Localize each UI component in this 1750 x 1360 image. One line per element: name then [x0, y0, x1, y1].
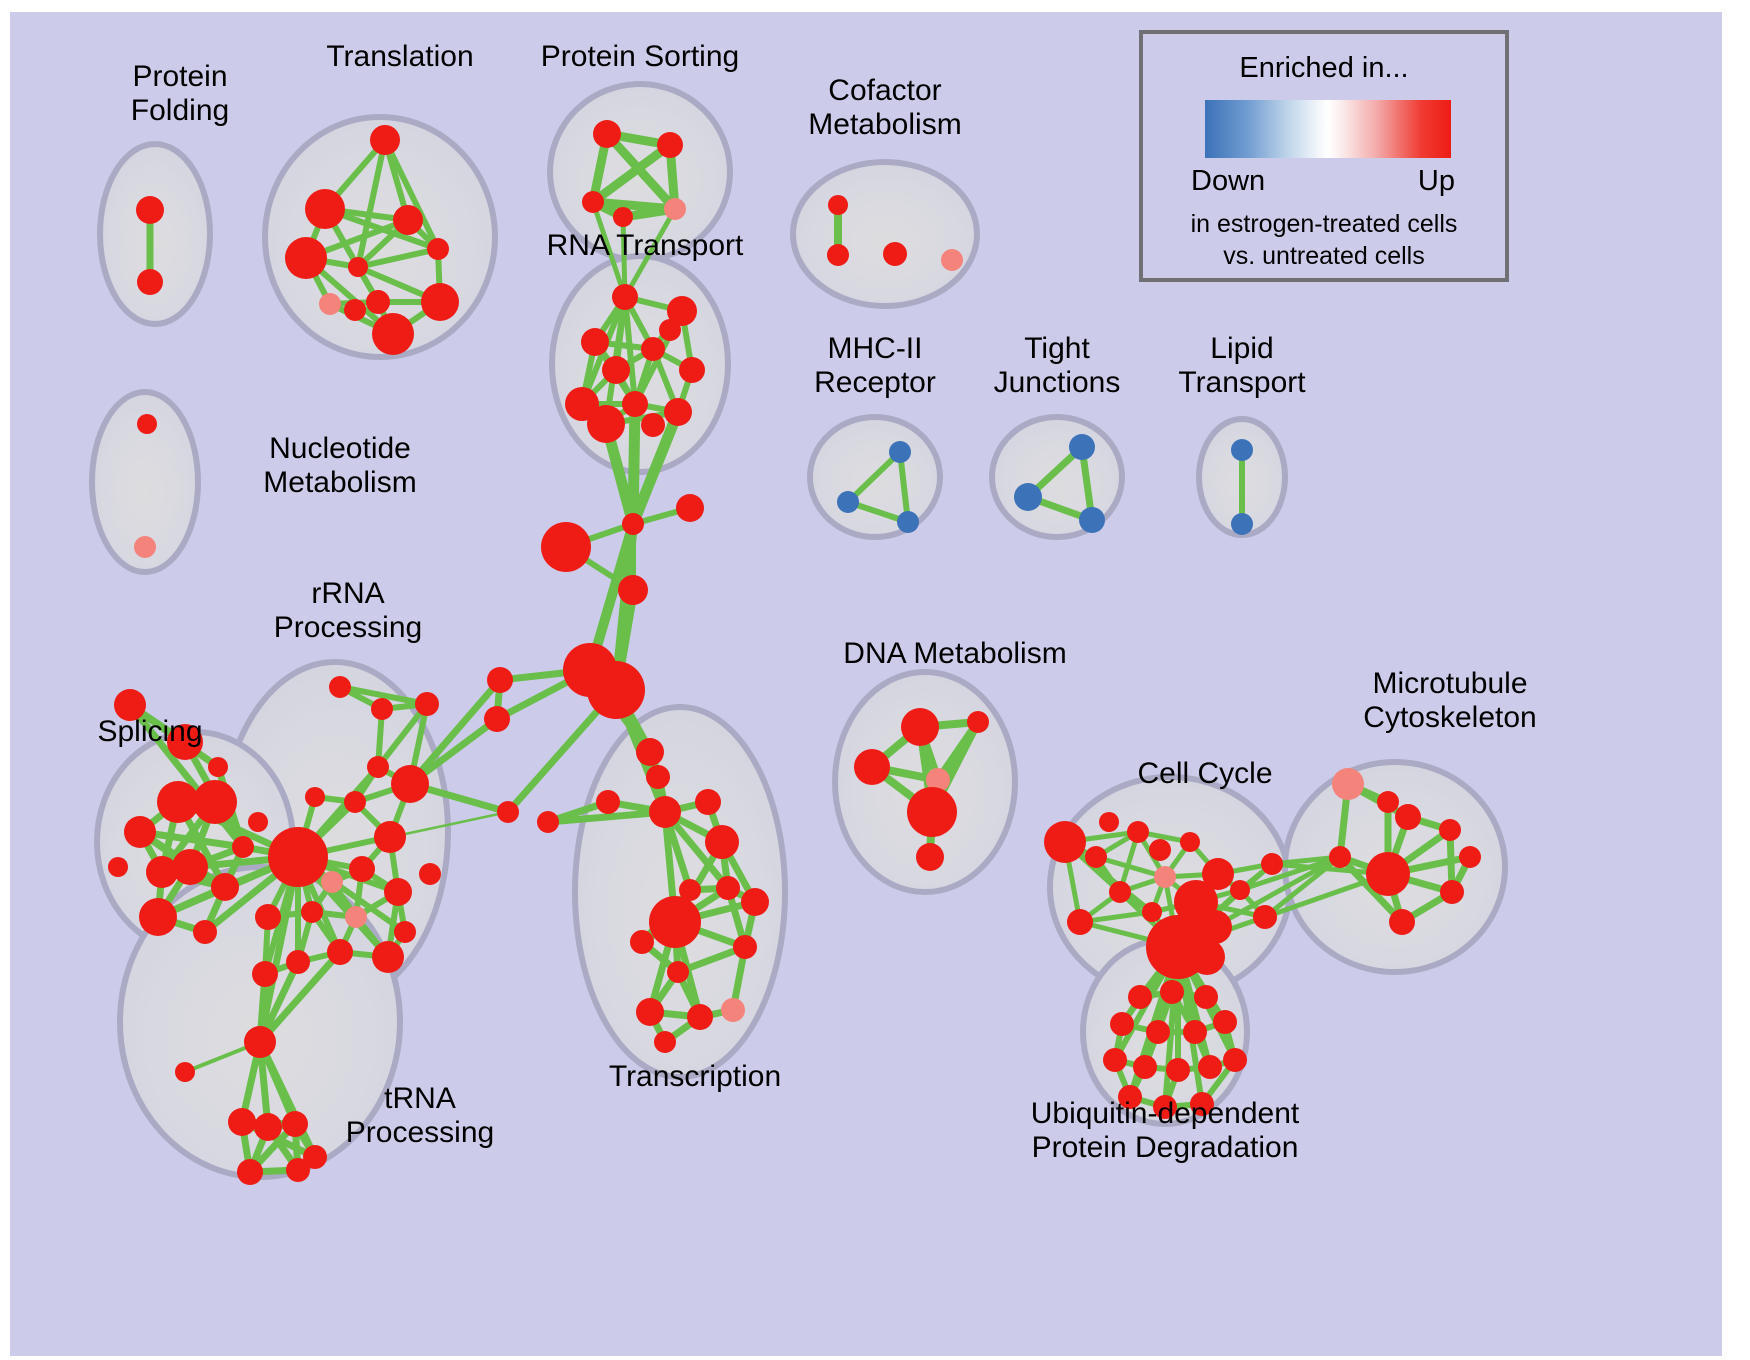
- node: [1067, 909, 1093, 935]
- node: [139, 898, 177, 936]
- node: [618, 575, 648, 605]
- node: [370, 125, 400, 155]
- node: [193, 780, 237, 824]
- node: [348, 257, 368, 277]
- hull-protein-folding: [100, 144, 210, 324]
- node: [232, 836, 254, 858]
- node: [587, 661, 645, 719]
- node: [1366, 852, 1410, 896]
- node: [175, 1062, 195, 1082]
- node: [421, 283, 459, 321]
- node: [716, 876, 740, 900]
- node: [1110, 1012, 1134, 1036]
- node: [687, 1004, 713, 1030]
- network-canvas: Protein Folding Translation Protein Sort…: [10, 12, 1722, 1356]
- node: [1261, 853, 1283, 875]
- node: [582, 191, 604, 213]
- node: [137, 269, 163, 295]
- node: [827, 244, 849, 266]
- node: [1439, 819, 1461, 841]
- node: [1133, 1055, 1157, 1079]
- node: [667, 961, 689, 983]
- node: [394, 921, 416, 943]
- node: [733, 935, 757, 959]
- node: [741, 888, 769, 916]
- node: [393, 205, 423, 235]
- node: [327, 939, 353, 965]
- node: [622, 391, 648, 417]
- node: [345, 906, 367, 928]
- node: [1377, 791, 1399, 813]
- node: [1189, 939, 1225, 975]
- node: [1231, 513, 1253, 535]
- node: [303, 1145, 327, 1169]
- node: [114, 689, 146, 721]
- node: [630, 930, 654, 954]
- node: [1166, 1058, 1190, 1082]
- node: [371, 698, 393, 720]
- node: [419, 863, 441, 885]
- node: [372, 313, 414, 355]
- node: [721, 998, 745, 1022]
- node: [1253, 905, 1277, 929]
- node: [248, 812, 268, 832]
- figure-root: Protein Folding Translation Protein Sort…: [0, 0, 1750, 1360]
- node: [828, 195, 848, 215]
- node: [537, 811, 559, 833]
- node: [622, 513, 644, 535]
- node: [1395, 804, 1421, 830]
- node: [497, 801, 519, 823]
- node: [664, 398, 692, 426]
- node: [1160, 980, 1184, 1004]
- node: [1103, 1048, 1127, 1072]
- node: [641, 413, 665, 437]
- node: [1230, 880, 1250, 900]
- node: [282, 1111, 308, 1137]
- node: [1389, 909, 1415, 935]
- node: [897, 511, 919, 533]
- node: [593, 120, 621, 148]
- node: [384, 878, 412, 906]
- node: [254, 1113, 282, 1141]
- node: [305, 787, 325, 807]
- node: [1459, 846, 1481, 868]
- node: [344, 299, 366, 321]
- legend-up-label: Up: [1418, 165, 1455, 198]
- node: [664, 198, 686, 220]
- node: [679, 357, 705, 383]
- node: [1128, 985, 1152, 1009]
- node: [1109, 881, 1131, 903]
- node: [907, 787, 957, 837]
- node: [901, 708, 939, 746]
- node: [613, 207, 633, 227]
- node: [916, 843, 944, 871]
- node: [1198, 1055, 1222, 1079]
- node: [285, 237, 327, 279]
- node: [695, 789, 721, 815]
- legend-color-bar: [1205, 100, 1451, 158]
- node: [268, 827, 328, 887]
- node: [654, 1031, 676, 1053]
- node: [344, 791, 366, 813]
- node: [244, 1026, 276, 1058]
- node: [854, 749, 890, 785]
- node: [641, 337, 665, 361]
- node: [1142, 902, 1162, 922]
- node: [1231, 439, 1253, 461]
- node: [636, 998, 664, 1026]
- node: [1440, 880, 1464, 904]
- node: [367, 756, 389, 778]
- node: [1085, 846, 1107, 868]
- node: [108, 857, 128, 877]
- node: [487, 667, 513, 693]
- node: [967, 711, 989, 733]
- legend-title: Enriched in...: [1143, 52, 1505, 85]
- node: [136, 196, 164, 224]
- node: [649, 896, 701, 948]
- node: [636, 738, 664, 766]
- node: [193, 920, 217, 944]
- node: [883, 242, 907, 266]
- node: [208, 757, 228, 777]
- node: [366, 290, 390, 314]
- legend-down-label: Down: [1191, 165, 1265, 198]
- node: [124, 816, 156, 848]
- node: [941, 249, 963, 271]
- node: [657, 132, 683, 158]
- node: [415, 692, 439, 716]
- node: [305, 189, 345, 229]
- node: [612, 284, 638, 310]
- node: [889, 441, 911, 463]
- node: [391, 765, 429, 803]
- node: [649, 796, 681, 828]
- node: [211, 873, 239, 901]
- node: [134, 536, 156, 558]
- hull-cofactor: [793, 162, 977, 306]
- node: [659, 319, 681, 341]
- node: [1183, 1020, 1207, 1044]
- node: [427, 238, 449, 260]
- node: [1198, 910, 1232, 944]
- node: [581, 328, 609, 356]
- node: [237, 1159, 263, 1185]
- node: [484, 706, 510, 732]
- node: [596, 790, 620, 814]
- node: [321, 871, 343, 893]
- node: [1127, 821, 1149, 843]
- node: [1332, 768, 1364, 800]
- node: [1079, 507, 1105, 533]
- node: [252, 961, 278, 987]
- node: [1014, 483, 1042, 511]
- node: [1154, 866, 1176, 888]
- node: [541, 522, 591, 572]
- node: [1180, 832, 1200, 852]
- node: [837, 491, 859, 513]
- node: [319, 293, 341, 315]
- legend-subtitle-1: in estrogen-treated cells: [1143, 210, 1505, 239]
- legend-subtitle-2: vs. untreated cells: [1143, 242, 1505, 271]
- node: [1146, 1020, 1170, 1044]
- node: [705, 825, 739, 859]
- node: [646, 765, 670, 789]
- node: [1044, 821, 1086, 863]
- node: [1118, 1085, 1142, 1109]
- node: [1099, 812, 1119, 832]
- node: [157, 781, 199, 823]
- node: [374, 821, 406, 853]
- node: [587, 405, 625, 443]
- node: [1069, 434, 1095, 460]
- node: [1223, 1048, 1247, 1072]
- node: [228, 1108, 256, 1136]
- node: [167, 724, 203, 760]
- node: [286, 950, 310, 974]
- node: [1329, 846, 1351, 868]
- node: [172, 849, 208, 885]
- node: [349, 856, 375, 882]
- node: [1194, 985, 1218, 1009]
- node: [255, 904, 281, 930]
- node: [137, 414, 157, 434]
- node: [1153, 1095, 1177, 1119]
- node: [602, 356, 630, 384]
- node: [301, 901, 323, 923]
- legend-box: Enriched in... Down Up in estrogen-treat…: [1139, 30, 1509, 282]
- node: [1149, 839, 1171, 861]
- node: [372, 941, 404, 973]
- node: [676, 494, 704, 522]
- node: [1213, 1010, 1237, 1034]
- node: [1190, 1092, 1214, 1116]
- node: [329, 676, 351, 698]
